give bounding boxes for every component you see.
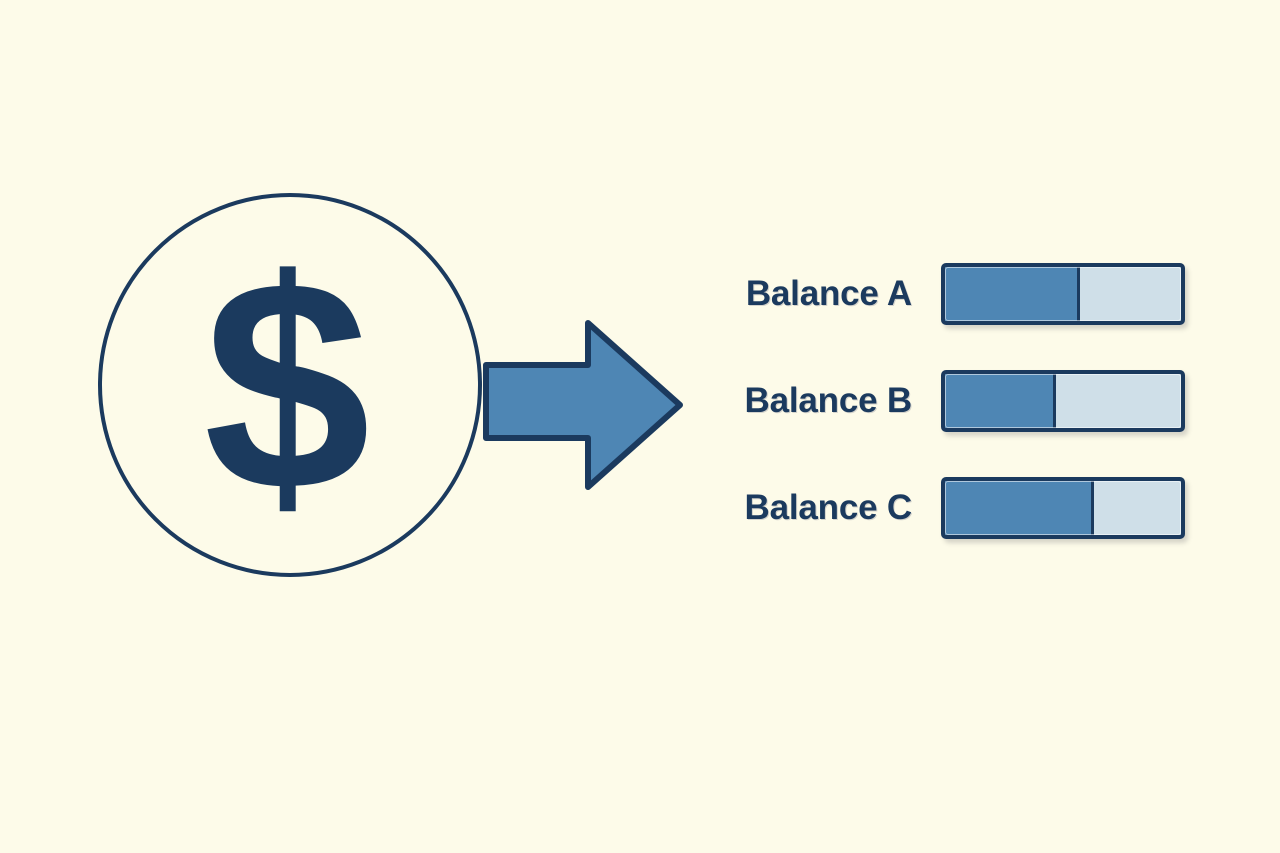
balance-label: Balance B [700,381,912,421]
balance-progress-fill [945,481,1094,535]
arrow-right-icon [480,314,686,496]
dollar-glyph: $ [204,217,371,553]
arrow-shape [486,323,680,487]
balance-row: Balance C [700,472,1200,544]
balance-label: Balance A [700,274,912,314]
balance-list: Balance A Balance B Balance C [700,258,1200,558]
balance-row: Balance B [700,365,1200,437]
balance-row: Balance A [700,258,1200,330]
balance-progress-track [941,477,1185,539]
balance-label: Balance C [700,488,912,528]
dollar-sign-circle-icon: $ [97,192,483,578]
balance-progress-track [941,263,1185,325]
balance-progress-track [941,370,1185,432]
balance-progress-fill [945,267,1080,321]
balance-progress-fill [945,374,1056,428]
diagram-canvas: $ Balance A Balance B Balance C [0,0,1280,853]
